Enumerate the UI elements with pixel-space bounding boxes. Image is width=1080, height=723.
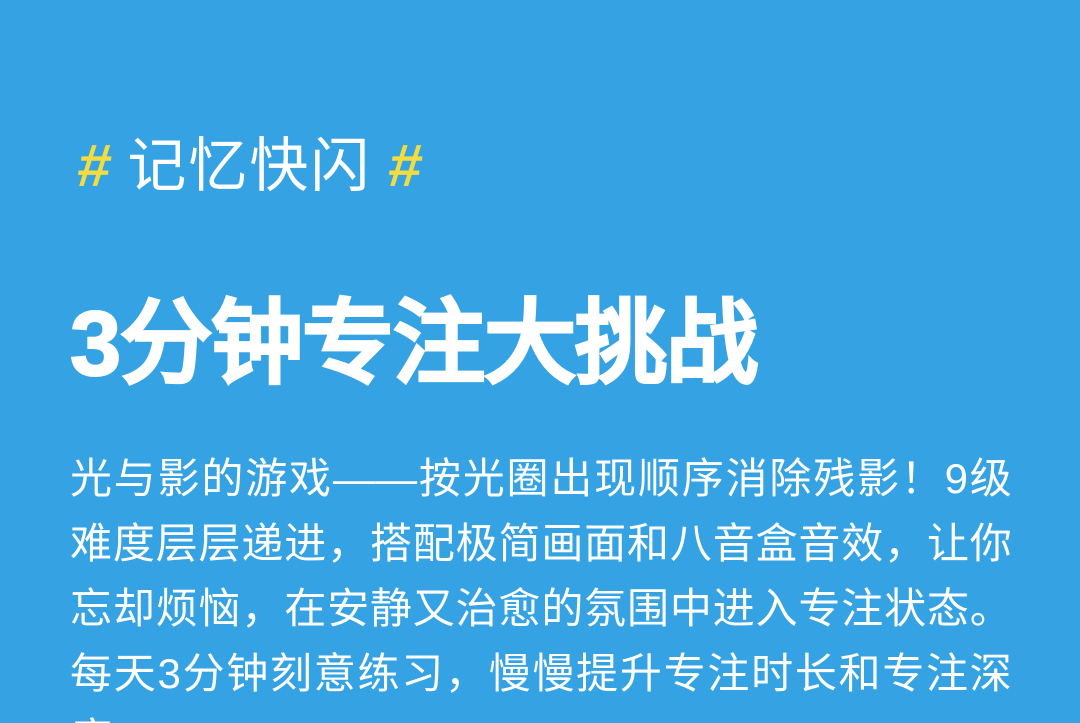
promo-card: # 记忆快闪 # 3分钟专注大挑战 光与影的游戏——按光圈出现顺序消除残影！9级… [0, 0, 1080, 723]
hash-icon-left: # [75, 136, 113, 196]
tagline: # 记忆快闪 # [78, 136, 421, 196]
hash-icon-right: # [386, 136, 424, 196]
page-title: 3分钟专注大挑战 [70, 296, 757, 393]
tagline-label: 记忆快闪 [127, 137, 371, 196]
description-paragraph: 光与影的游戏——按光圈出现顺序消除残影！9级难度层层递进，搭配极简画面和八音盒音… [70, 446, 1012, 723]
